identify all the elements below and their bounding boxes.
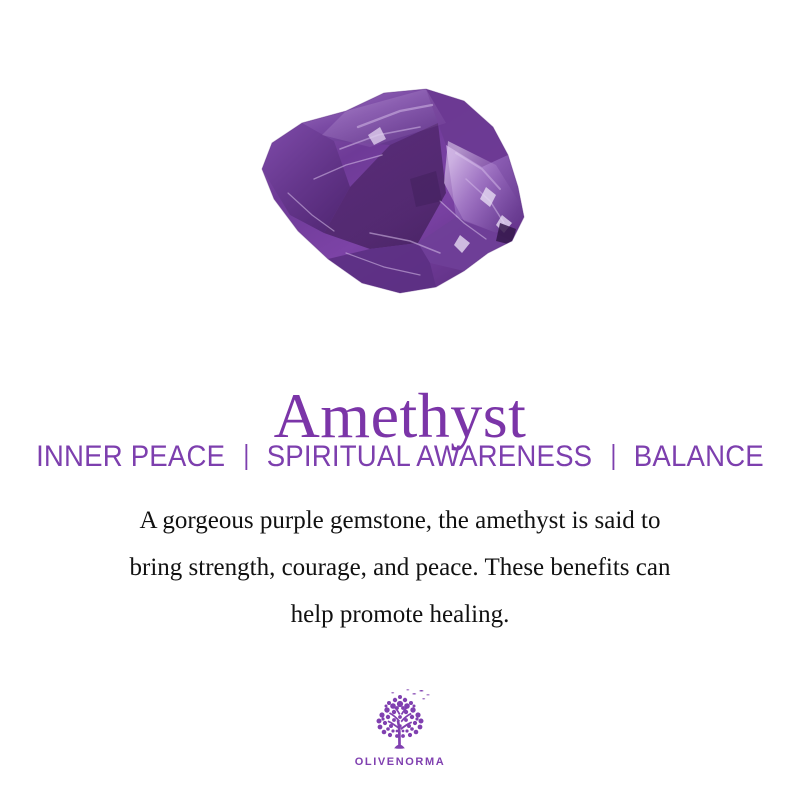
tree-of-life-icon: [364, 686, 436, 752]
keyword-separator-1: [245, 444, 247, 470]
keyword-line: INNER PEACE SPIRITUAL AWARENESS BALANCE: [32, 438, 768, 476]
description-line-3: help promote healing.: [55, 591, 745, 638]
description-line-1: A gorgeous purple gemstone, the amethyst…: [55, 497, 745, 544]
brand-logo: OLIVENORMA: [0, 686, 800, 768]
keyword-spiritual-awareness: SPIRITUAL AWARENESS: [267, 440, 593, 473]
brand-name: OLIVENORMA: [355, 756, 446, 768]
description-line-2: bring strength, courage, and peace. Thes…: [55, 544, 745, 591]
keyword-separator-2: [612, 444, 614, 470]
amethyst-crystal-illustration: [250, 83, 550, 299]
description-text: A gorgeous purple gemstone, the amethyst…: [55, 497, 745, 638]
amethyst-stone-image: [0, 78, 800, 303]
product-info-card: Amethyst INNER PEACE SPIRITUAL AWARENESS…: [0, 0, 800, 800]
keyword-balance: BALANCE: [634, 440, 764, 473]
keyword-inner-peace: INNER PEACE: [36, 440, 225, 473]
